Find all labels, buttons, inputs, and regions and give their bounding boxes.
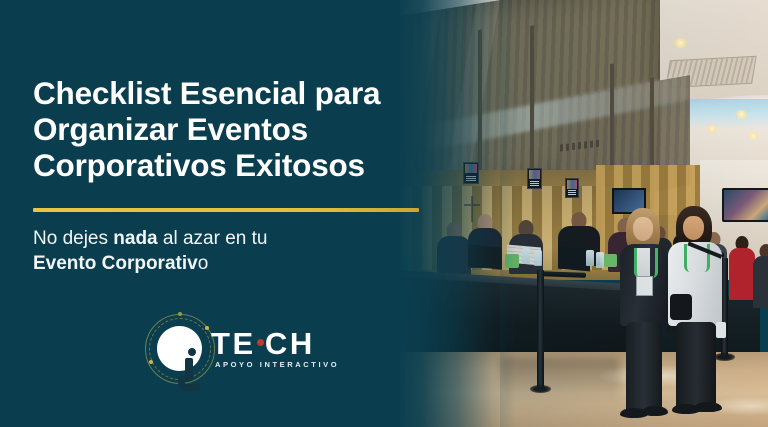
subheadline-line-2: Evento Corporativo: [33, 251, 433, 276]
logo-orbit-dot-icon: [205, 326, 209, 330]
subheadline-line-1: No dejes nada al azar en tu: [33, 226, 433, 251]
subheadline-text-c: al azar en tu: [158, 228, 268, 249]
subheadline-emphasis: nada: [113, 228, 157, 249]
logo-accent-dot-icon: [257, 339, 264, 346]
logo-wordmark-a: TE: [211, 326, 256, 361]
subheadline-text-a: No dejes: [33, 228, 113, 249]
subheadline-emphasis-2: Evento Corporativ: [33, 253, 198, 274]
logo-wordmark: TECH: [211, 328, 315, 359]
itech-logo[interactable]: TECH APOYO INTERACTIVO: [145, 310, 320, 388]
logo-letter-i-dot-icon: [188, 348, 196, 356]
subheadline: No dejes nada al azar en tu Evento Corpo…: [33, 226, 433, 276]
headline-line-3: Corporativos Exitosos: [33, 148, 448, 184]
logo-orbit-dot-icon: [149, 360, 153, 364]
logo-letter-i-curve-icon: [178, 376, 201, 392]
headline-line-2: Organizar Eventos: [33, 112, 448, 148]
teal-tint: [500, 0, 768, 427]
logo-wordmark-b: CH: [265, 326, 315, 361]
logo-orbit-dot-icon: [178, 312, 182, 316]
subheadline-text-d: o: [198, 253, 209, 274]
headline-line-1: Checklist Esencial para: [33, 76, 448, 112]
headline: Checklist Esencial para Organizar Evento…: [33, 76, 448, 184]
promo-banner: Checklist Esencial para Organizar Evento…: [0, 0, 768, 427]
logo-mark-circle-icon: [157, 326, 202, 371]
logo-tagline: APOYO INTERACTIVO: [215, 360, 339, 369]
gold-divider: [33, 208, 419, 212]
